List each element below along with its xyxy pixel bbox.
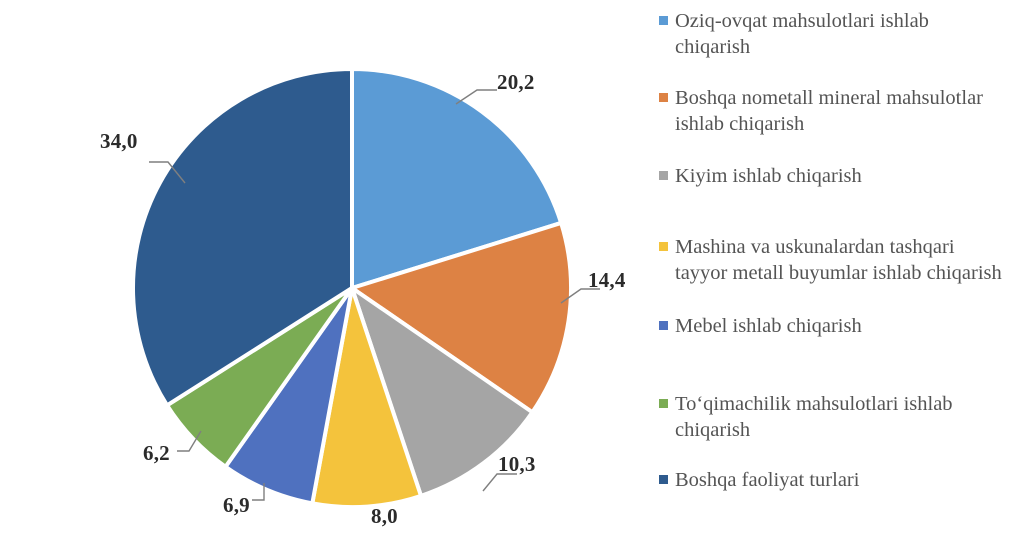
pie-plot-area: 20,214,410,38,06,96,234,0 <box>0 0 660 555</box>
legend-item-label: Mebel ishlab chiqarish <box>675 313 862 339</box>
legend-item[interactable]: Mashina va uskunalardan tashqari tayyor … <box>659 234 1005 286</box>
legend-item[interactable]: To‘qimachilik mahsulotlari ishlab chiqar… <box>659 391 1005 443</box>
legend-item-label: Oziq-ovqat mahsulotlari ishlab chiqarish <box>675 8 1005 60</box>
legend-item[interactable]: Oziq-ovqat mahsulotlari ishlab chiqarish <box>659 8 1005 60</box>
pie-chart: 20,214,410,38,06,96,234,0 Oziq-ovqat mah… <box>0 0 1024 555</box>
pie-data-label: 6,9 <box>223 493 250 518</box>
legend-swatch-icon <box>659 475 668 484</box>
legend-swatch-icon <box>659 16 668 25</box>
legend-item-label: To‘qimachilik mahsulotlari ishlab chiqar… <box>675 391 1005 443</box>
chart-legend: Oziq-ovqat mahsulotlari ishlab chiqarish… <box>659 0 1024 555</box>
legend-item[interactable]: Kiyim ishlab chiqarish <box>659 163 862 189</box>
legend-item[interactable]: Mebel ishlab chiqarish <box>659 313 862 339</box>
pie-data-label: 14,4 <box>588 268 626 293</box>
pie-data-label: 34,0 <box>100 129 138 154</box>
legend-swatch-icon <box>659 171 668 180</box>
pie-data-label: 20,2 <box>497 70 535 95</box>
legend-item-label: Kiyim ishlab chiqarish <box>675 163 862 189</box>
pie-data-label: 6,2 <box>143 441 170 466</box>
legend-item-label: Boshqa faoliyat turlari <box>675 467 859 493</box>
pie-svg <box>0 0 660 555</box>
legend-item[interactable]: Boshqa faoliyat turlari <box>659 467 859 493</box>
legend-item-label: Boshqa nometall mineral mahsulotlar ishl… <box>675 85 1005 137</box>
legend-item-label: Mashina va uskunalardan tashqari tayyor … <box>675 234 1005 286</box>
pie-slice-group <box>133 69 571 507</box>
legend-swatch-icon <box>659 321 668 330</box>
pie-data-label: 8,0 <box>371 504 398 529</box>
legend-swatch-icon <box>659 93 668 102</box>
legend-item[interactable]: Boshqa nometall mineral mahsulotlar ishl… <box>659 85 1005 137</box>
legend-swatch-icon <box>659 399 668 408</box>
legend-swatch-icon <box>659 242 668 251</box>
pie-data-label: 10,3 <box>498 452 536 477</box>
